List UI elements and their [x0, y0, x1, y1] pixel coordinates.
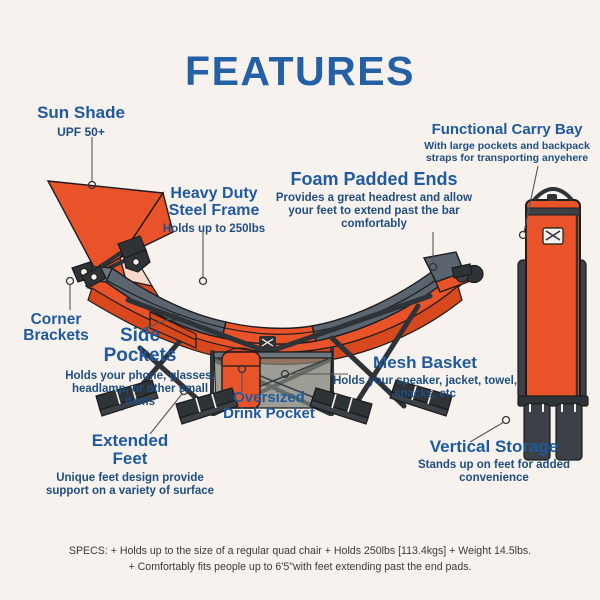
feature-title-line1: Heavy Duty — [148, 186, 280, 203]
carry-bag — [518, 189, 588, 460]
feature-subtitle: With large pockets and backpack straps f… — [414, 141, 600, 165]
feature-sun-shade: Sun Shade UPF 50+ — [6, 104, 156, 139]
feature-vertical-storage: Vertical Storage Stands up on feet for a… — [404, 438, 584, 485]
feature-title-line2: Drink Pocket — [206, 406, 332, 422]
feature-title-line2: Feet — [40, 450, 220, 468]
feature-title: Foam Padded Ends — [268, 170, 480, 189]
feature-title: Mesh Basket — [330, 354, 520, 372]
specs-footer: SPECS: + Holds up to the size of a regul… — [30, 544, 570, 576]
foam-padded-end-left — [72, 262, 112, 282]
feature-title: Vertical Storage — [404, 438, 584, 456]
feature-mesh-basket: Mesh Basket Holds your speaker, jacket, … — [330, 354, 520, 401]
canopy-bracket-upper — [124, 250, 150, 272]
feature-side-pockets: Side Pockets Holds your phone, glasses, … — [60, 326, 220, 409]
feature-title: Functional Carry Bay — [414, 122, 600, 138]
feature-title-line1: Side — [60, 326, 220, 346]
feature-oversized-drink-pocket: Oversized Drink Pocket — [206, 390, 332, 422]
foam-padded-end-right — [424, 252, 483, 292]
feature-title-line1: Oversized — [206, 390, 332, 406]
feature-title-line2: Steel Frame — [148, 203, 280, 220]
page-title: FEATURES — [0, 48, 600, 95]
feature-subtitle: Holds your phone, glasses, headlamp, or … — [60, 370, 220, 409]
specs-line-1: SPECS: + Holds up to the size of a regul… — [30, 544, 570, 560]
feature-title-line1: Extended — [40, 432, 220, 450]
feature-title-line2: Pockets — [60, 346, 220, 366]
feature-subtitle: Holds up to 250lbs — [148, 223, 280, 236]
corner-bracket — [82, 236, 146, 288]
specs-line-2: + Comfortably fits people up to 6'5"with… — [30, 560, 570, 576]
feature-subtitle: Unique feet design provide support on a … — [40, 472, 220, 498]
feature-extended-feet: Extended Feet Unique feet design provide… — [40, 432, 220, 497]
feature-subtitle: Stands up on feet for added convenience — [404, 459, 584, 485]
feature-subtitle: Holds your speaker, jacket, towel, snack… — [330, 375, 520, 401]
feature-subtitle: Provides a great headrest and allow your… — [268, 192, 480, 231]
feature-functional-carry-bag: Functional Carry Bay With large pockets … — [414, 122, 600, 164]
feature-title: Sun Shade — [6, 104, 156, 122]
feature-subtitle: UPF 50+ — [6, 126, 156, 139]
brand-logo-badge — [259, 336, 276, 349]
feature-heavy-duty-steel-frame: Heavy Duty Steel Frame Holds up to 250lb… — [148, 186, 280, 235]
features-infographic: .or { fill:#e8532a; stroke:#1c1c1c; stro… — [0, 0, 600, 600]
feature-foam-padded-ends: Foam Padded Ends Provides a great headre… — [268, 170, 480, 231]
